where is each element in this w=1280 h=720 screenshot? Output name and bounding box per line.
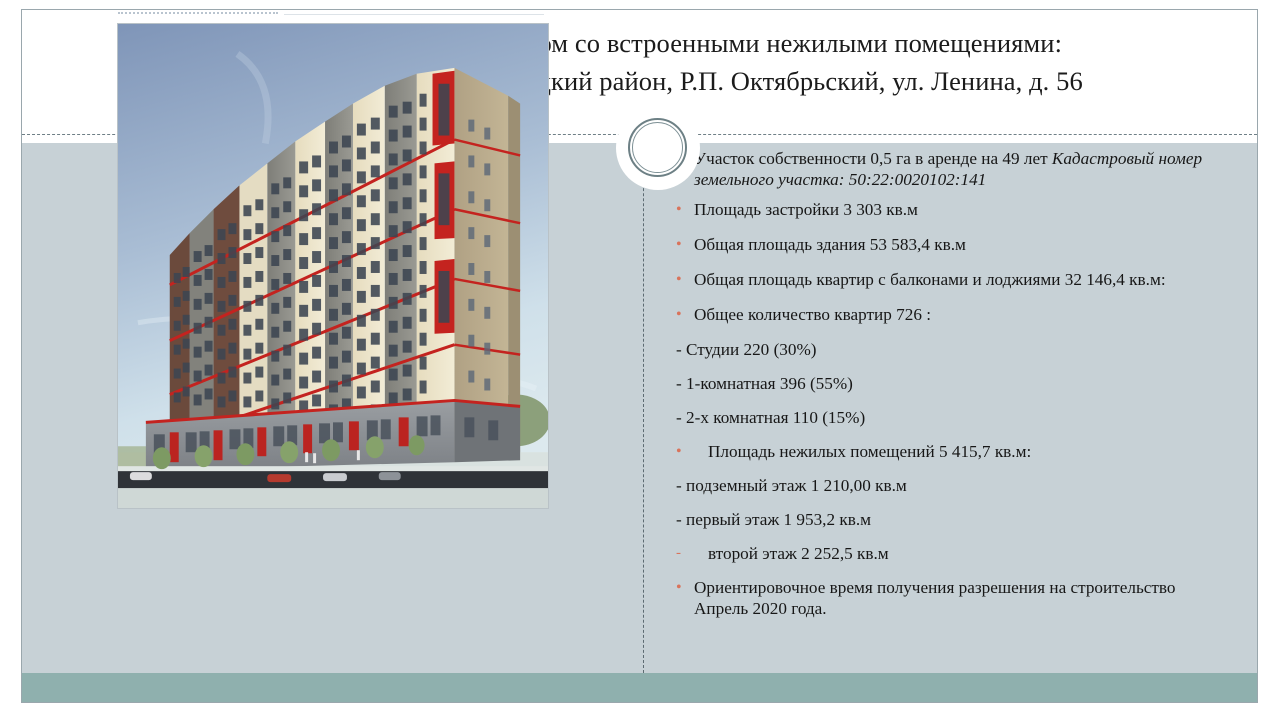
list-item: - первый этаж 1 953,2 кв.м: [672, 509, 1207, 530]
slide-bullet-list: • Участок собственности 0,5 га в аренде …: [672, 148, 1207, 628]
building-render-image: [117, 23, 549, 509]
list-item: • Общее количество квартир 726 :: [672, 304, 1207, 325]
list-item: • Площадь нежилых помещений 5 415,7 кв.м…: [672, 441, 1207, 462]
bullet-marker-icon: •: [672, 441, 694, 462]
building-illustration-icon: [118, 24, 548, 508]
list-item-text-plain: Участок собственности 0,5 га в аренде на…: [694, 149, 1052, 168]
list-item: • Участок собственности 0,5 га в аренде …: [672, 148, 1207, 190]
bullet-marker-icon: •: [672, 304, 694, 325]
list-item-text: - Студии 220 (30%): [672, 339, 1207, 360]
list-item-text-italic-lead: Кадастровый: [1052, 149, 1154, 168]
list-item: • Площадь застройки 3 303 кв.м: [672, 199, 1207, 220]
list-item: • Общая площадь квартир с балконами и ло…: [672, 269, 1207, 290]
bullet-marker-icon: •: [672, 199, 694, 220]
list-item-text: - первый этаж 1 953,2 кв.м: [672, 509, 1207, 530]
list-item-text: Участок собственности 0,5 га в аренде на…: [694, 148, 1207, 190]
vertical-divider-dashed: [643, 143, 644, 673]
dash-marker-icon: -: [672, 543, 694, 564]
list-item: - 1-комнатная 396 (55%): [672, 373, 1207, 394]
list-item: - второй этаж 2 252,5 кв.м: [672, 543, 1207, 564]
bullet-marker-icon: •: [672, 577, 694, 598]
list-item-text: - подземный этаж 1 210,00 кв.м: [672, 475, 1207, 496]
bullet-marker-icon: •: [672, 269, 694, 290]
list-item: - Студии 220 (30%): [672, 339, 1207, 360]
list-item-text: Ориентировочное время получения разрешен…: [694, 577, 1207, 619]
presentation-slide: Многоквартирный жилой дом со встроенными…: [21, 9, 1258, 703]
list-item: • Ориентировочное время получения разреш…: [672, 577, 1207, 619]
list-item: • Общая площадь здания 53 583,4 кв.м: [672, 234, 1207, 255]
list-item: - подземный этаж 1 210,00 кв.м: [672, 475, 1207, 496]
list-item-text: Площадь застройки 3 303 кв.м: [694, 199, 1207, 220]
list-item-text: Площадь нежилых помещений 5 415,7 кв.м:: [694, 441, 1207, 462]
list-item-text: второй этаж 2 252,5 кв.м: [694, 543, 1207, 564]
decorative-ring-inner-icon: [632, 122, 683, 173]
bullet-marker-icon: •: [672, 234, 694, 255]
decorative-dotted-line: [118, 12, 278, 14]
list-item-text: Общее количество квартир 726 :: [694, 304, 1207, 325]
list-item-text: - 2-х комнатная 110 (15%): [672, 407, 1207, 428]
list-item-text: - 1-комнатная 396 (55%): [672, 373, 1207, 394]
decorative-thin-line: [284, 14, 544, 15]
list-item-text: Общая площадь здания 53 583,4 кв.м: [694, 234, 1207, 255]
list-item: - 2-х комнатная 110 (15%): [672, 407, 1207, 428]
slide-footer-bar: [22, 673, 1257, 703]
list-item-text: Общая площадь квартир с балконами и лодж…: [694, 269, 1207, 290]
